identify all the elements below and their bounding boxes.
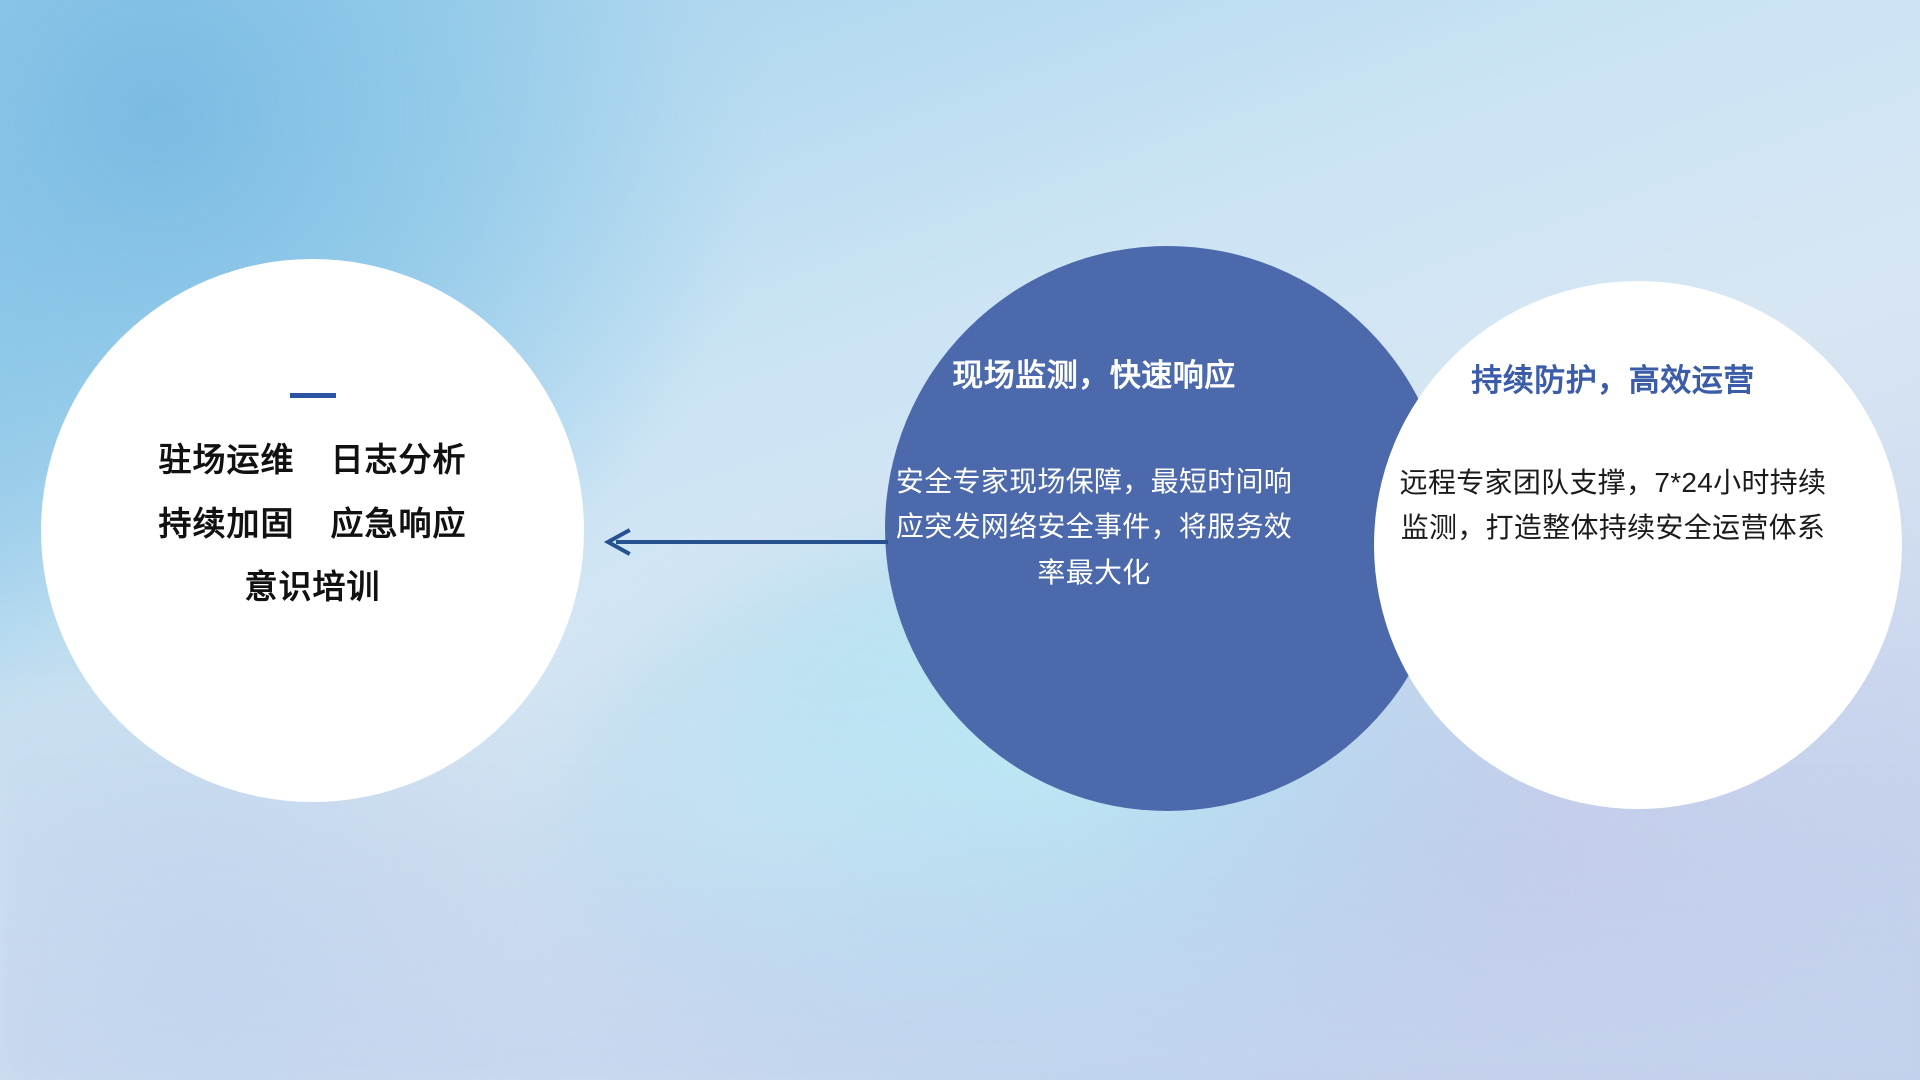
middle-circle-content: 现场监测，快速响应 安全专家现场保障，最短时间响应突发网络安全事件，将服务效率最…: [885, 350, 1303, 595]
service-tag: 持续加固: [159, 506, 295, 542]
middle-circle-body: 安全专家现场保障，最短时间响应突发网络安全事件，将服务效率最大化: [885, 459, 1303, 595]
arrow-left-icon: [600, 524, 890, 560]
right-circle-heading: 持续防护，高效运营: [1388, 355, 1838, 400]
service-tag: 驻场运维: [159, 442, 295, 478]
horizontal-dash-icon: [290, 393, 336, 398]
service-tag-row: 持续加固 应急响应: [159, 506, 467, 542]
service-tag: 意识培训: [245, 569, 381, 605]
service-tag-list: 驻场运维 日志分析 持续加固 应急响应 意识培训: [159, 442, 467, 605]
right-circle-content: 持续防护，高效运营 远程专家团队支撑，7*24小时持续监测，打造整体持续安全运营…: [1388, 355, 1838, 551]
slide-canvas: 驻场运维 日志分析 持续加固 应急响应 意识培训 现场监测，快速响应 安全专家现…: [0, 0, 1920, 1080]
service-tag: 日志分析: [331, 442, 467, 478]
circle-left-services: 驻场运维 日志分析 持续加固 应急响应 意识培训: [41, 259, 584, 802]
service-tag: 应急响应: [331, 506, 467, 542]
middle-circle-heading: 现场监测，快速响应: [885, 350, 1303, 395]
right-circle-body: 远程专家团队支撑，7*24小时持续监测，打造整体持续安全运营体系: [1388, 460, 1838, 551]
service-tag-row: 驻场运维 日志分析: [159, 442, 467, 478]
service-tag-row: 意识培训: [245, 569, 381, 605]
